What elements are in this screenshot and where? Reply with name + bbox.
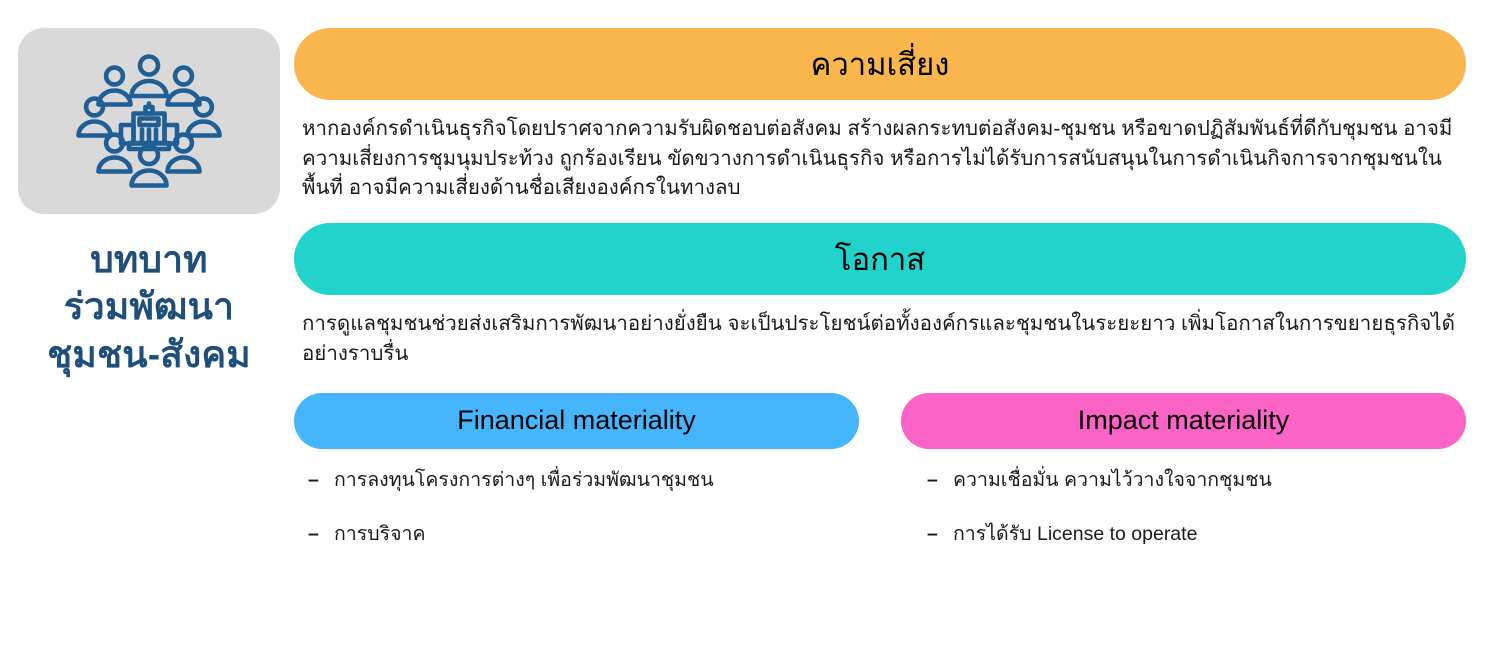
page-title-line-3: ชุมชน-สังคม <box>18 331 280 378</box>
financial-materiality-label: Financial materiality <box>457 407 696 434</box>
materiality-row: Financial materiality – การลงทุนโครงการต… <box>294 393 1466 576</box>
financial-materiality-pill: Financial materiality <box>294 393 859 449</box>
financial-materiality-list: – การลงทุนโครงการต่างๆ เพื่อร่วมพัฒนาชุม… <box>294 449 859 549</box>
list-item: – การลงทุนโครงการต่างๆ เพื่อร่วมพัฒนาชุม… <box>308 467 859 494</box>
list-item: – การได้รับ License to operate <box>927 521 1466 548</box>
risk-banner: ความเสี่ยง <box>294 28 1466 100</box>
bullet-dash-icon: – <box>927 521 953 548</box>
page-title: บทบาท ร่วมพัฒนา ชุมชน-สังคม <box>18 236 280 378</box>
list-item-label: การบริจาค <box>334 521 426 548</box>
community-people-around-building-icon <box>69 51 229 191</box>
list-item-label: ความเชื่อมั่น ความไว้วางใจจากชุมชน <box>953 467 1272 494</box>
impact-materiality-label: Impact materiality <box>1078 407 1290 434</box>
opportunity-body-text: การดูแลชุมชนช่วยส่งเสริมการพัฒนาอย่างยั่… <box>294 295 1466 368</box>
section-spacer <box>294 203 1466 223</box>
slide-root: บทบาท ร่วมพัฒนา ชุมชน-สังคม ความเสี่ยง ห… <box>0 0 1488 652</box>
opportunity-body-paragraph: การดูแลชุมชนช่วยส่งเสริมการพัฒนาอย่างยั่… <box>302 309 1462 368</box>
opportunity-banner: โอกาส <box>294 223 1466 295</box>
page-title-line-2: ร่วมพัฒนา <box>18 283 280 330</box>
bullet-dash-icon: – <box>308 521 334 548</box>
opportunity-banner-label: โอกาส <box>835 244 925 275</box>
impact-materiality-pill: Impact materiality <box>901 393 1466 449</box>
topic-icon-card <box>18 28 280 214</box>
list-item: – การบริจาค <box>308 521 859 548</box>
list-item: – ความเชื่อมั่น ความไว้วางใจจากชุมชน <box>927 467 1466 494</box>
impact-materiality-list: – ความเชื่อมั่น ความไว้วางใจจากชุมชน – ก… <box>901 449 1466 549</box>
right-column: ความเสี่ยง หากองค์กรดำเนินธุรกิจโดยปราศจ… <box>294 28 1466 575</box>
impact-materiality-column: Impact materiality – ความเชื่อมั่น ความไ… <box>901 393 1466 576</box>
financial-materiality-column: Financial materiality – การลงทุนโครงการต… <box>294 393 859 576</box>
risk-body-paragraph: หากองค์กรดำเนินธุรกิจโดยปราศจากความรับผิ… <box>302 114 1462 203</box>
page-title-line-1: บทบาท <box>18 236 280 283</box>
list-item-label: การได้รับ License to operate <box>953 521 1197 548</box>
risk-body-text: หากองค์กรดำเนินธุรกิจโดยปราศจากความรับผิ… <box>294 100 1466 203</box>
bullet-dash-icon: – <box>308 467 334 494</box>
left-column: บทบาท ร่วมพัฒนา ชุมชน-สังคม <box>18 28 280 378</box>
bullet-dash-icon: – <box>927 467 953 494</box>
risk-banner-label: ความเสี่ยง <box>811 49 950 80</box>
list-item-label: การลงทุนโครงการต่างๆ เพื่อร่วมพัฒนาชุมชน <box>334 467 714 494</box>
